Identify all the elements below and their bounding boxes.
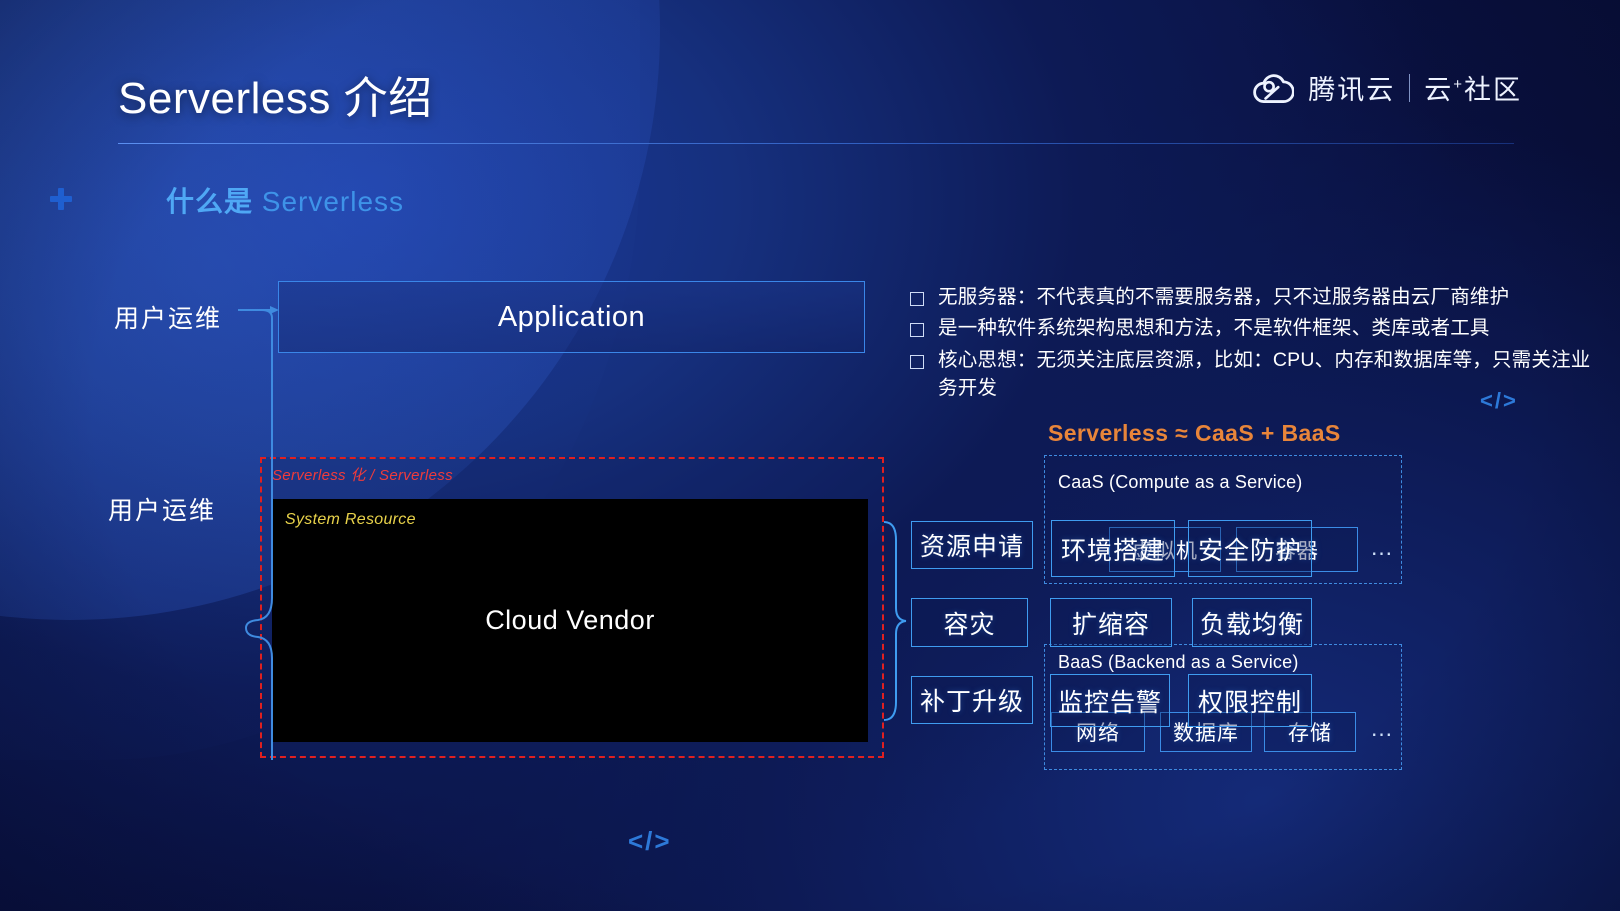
section-subtitle: 什么是 Serverless bbox=[166, 180, 404, 220]
bullet-text: 是一种软件系统架构思想和方法，不是软件框架、类库或者工具 bbox=[938, 314, 1490, 342]
list-item: 无服务器：不代表真的不需要服务器，只不过服务器由云厂商维护 bbox=[910, 283, 1610, 311]
page-title: Serverless 介绍 bbox=[118, 62, 433, 126]
square-bullet-icon bbox=[910, 355, 924, 369]
logo-community-second: 社区 bbox=[1464, 75, 1522, 105]
list-item: 是一种软件系统架构思想和方法，不是软件框架、类库或者工具 bbox=[910, 314, 1610, 342]
serverless-formula: Serverless ≈ CaaS + BaaS bbox=[1048, 420, 1341, 447]
baas-zone-title: BaaS (Backend as a Service) bbox=[1058, 652, 1299, 673]
list-item: 核心思想：无须关注底层资源，比如：CPU、内存和数据库等，只需关注业务开发 bbox=[910, 346, 1610, 403]
ops-box-disaster-recovery: 容灾 bbox=[911, 598, 1028, 647]
caas-box-environment-setup: 环境搭建 bbox=[1051, 520, 1175, 577]
bullet-text: 无服务器：不代表真的不需要服务器，只不过服务器由云厂商维护 bbox=[938, 283, 1509, 311]
logo-community-first: 云 bbox=[1424, 75, 1453, 105]
plus-decoration-icon bbox=[50, 188, 72, 210]
subtitle-cn: 什么是 bbox=[166, 186, 262, 217]
logo-superscript: + bbox=[1453, 76, 1464, 93]
bullet-text: 核心思想：无须关注底层资源，比如：CPU、内存和数据库等，只需关注业务开发 bbox=[938, 346, 1610, 403]
serverless-frame-label: Serverless 化 / Serverless bbox=[272, 464, 453, 485]
baas-ellipsis: … bbox=[1370, 715, 1395, 742]
baas-box-monitoring-alert: 监控告警 bbox=[1050, 674, 1170, 727]
code-brackets-icon-bottom: </> bbox=[628, 826, 672, 857]
cloud-icon bbox=[1252, 73, 1294, 103]
label-user-ops-bottom: 用户运维 bbox=[108, 491, 216, 527]
slide-canvas: Serverless 介绍 腾讯云 云+社区 什么是 Serverless </… bbox=[0, 0, 1620, 911]
brand-logo: 腾讯云 云+社区 bbox=[1252, 68, 1522, 107]
square-bullet-icon bbox=[910, 292, 924, 306]
caas-ellipsis: … bbox=[1370, 534, 1395, 561]
ops-box-patch-upgrade: 补丁升级 bbox=[911, 676, 1033, 724]
box-load-balancing: 负载均衡 bbox=[1192, 598, 1312, 647]
caas-zone-title: CaaS (Compute as a Service) bbox=[1058, 472, 1303, 493]
box-auto-scaling: 扩缩容 bbox=[1050, 598, 1172, 647]
label-user-ops-top: 用户运维 bbox=[114, 299, 222, 335]
application-box: Application bbox=[278, 281, 865, 353]
cloud-vendor-label: Cloud Vendor bbox=[485, 605, 655, 636]
subtitle-en: Serverless bbox=[262, 186, 404, 217]
caas-box-security-protection: 安全防护 bbox=[1188, 520, 1312, 577]
bullet-list: 无服务器：不代表真的不需要服务器，只不过服务器由云厂商维护 是一种软件系统架构思… bbox=[910, 283, 1610, 405]
title-divider bbox=[118, 143, 1514, 144]
application-box-label: Application bbox=[498, 301, 645, 334]
cloud-vendor-panel: Cloud Vendor bbox=[272, 499, 868, 742]
system-resource-label: System Resource bbox=[285, 511, 416, 529]
logo-community-text: 云+社区 bbox=[1424, 68, 1522, 107]
baas-box-permission-control: 权限控制 bbox=[1188, 674, 1312, 727]
logo-brand-text: 腾讯云 bbox=[1308, 68, 1395, 107]
square-bullet-icon bbox=[910, 323, 924, 337]
logo-separator bbox=[1409, 74, 1410, 102]
ops-box-resource-request: 资源申请 bbox=[911, 521, 1033, 569]
